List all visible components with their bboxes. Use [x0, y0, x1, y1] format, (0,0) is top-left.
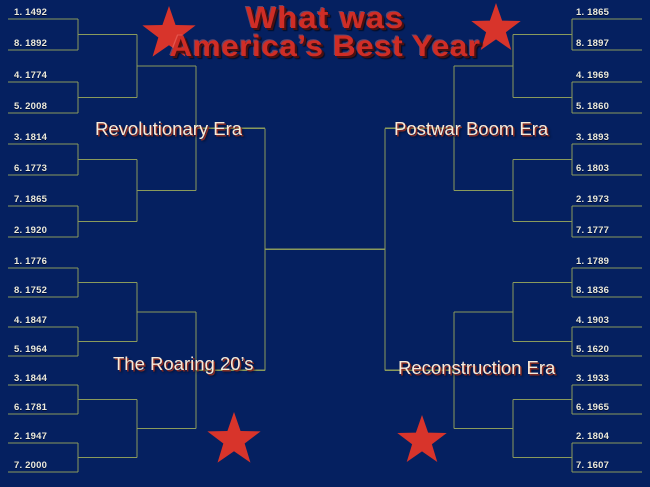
seed-entry: 2. 1973: [576, 194, 609, 205]
seed-entry: 2. 1804: [576, 431, 609, 442]
seed-entry: 4. 1969: [576, 70, 609, 81]
star-top-left-icon: [142, 6, 195, 57]
seed-entry: 4. 1847: [14, 315, 47, 326]
star-decorations: [142, 3, 520, 463]
seed-entry: 1. 1789: [576, 256, 609, 267]
seed-entry: 3. 1844: [14, 373, 47, 384]
seed-entry: 8. 1897: [576, 38, 609, 49]
seed-entry: 7. 2000: [14, 460, 47, 471]
seed-entry: 1. 1865: [576, 7, 609, 18]
seed-entry: 7. 1865: [14, 194, 47, 205]
bracket-lines: [0, 0, 650, 487]
seed-entry: 6. 1965: [576, 402, 609, 413]
seed-entry: 2. 1947: [14, 431, 47, 442]
seed-entry: 5. 1964: [14, 344, 47, 355]
seed-entry: 5. 1860: [576, 101, 609, 112]
bracket-canvas: What was America’s Best Year 1. 14928. 1…: [0, 0, 650, 487]
seed-entry: 1. 1776: [14, 256, 47, 267]
region-label-bottom-left: The Roaring 20’s: [113, 353, 254, 375]
region-label-top-left: Revolutionary Era: [95, 118, 242, 140]
seed-entry: 4. 1774: [14, 70, 47, 81]
seed-entry: 2. 1920: [14, 225, 47, 236]
seed-entry: 1. 1492: [14, 7, 47, 18]
seed-entry: 5. 2008: [14, 101, 47, 112]
seed-entry: 4. 1903: [576, 315, 609, 326]
seed-entry: 3. 1814: [14, 132, 47, 143]
seed-entry: 6. 1803: [576, 163, 609, 174]
star-bottom-left-icon: [207, 412, 260, 463]
region-label-top-right: Postwar Boom Era: [394, 118, 548, 140]
region-label-bottom-right: Reconstruction Era: [398, 357, 555, 379]
seed-entry: 6. 1773: [14, 163, 47, 174]
seed-entry: 7. 1777: [576, 225, 609, 236]
seed-entry: 7. 1607: [576, 460, 609, 471]
seed-entry: 3. 1893: [576, 132, 609, 143]
star-bottom-right-icon: [397, 415, 446, 462]
seed-entry: 3. 1933: [576, 373, 609, 384]
seed-entry: 5. 1620: [576, 344, 609, 355]
seed-entry: 8. 1836: [576, 285, 609, 296]
seed-entry: 8. 1892: [14, 38, 47, 49]
seed-entry: 8. 1752: [14, 285, 47, 296]
seed-entry: 6. 1781: [14, 402, 47, 413]
